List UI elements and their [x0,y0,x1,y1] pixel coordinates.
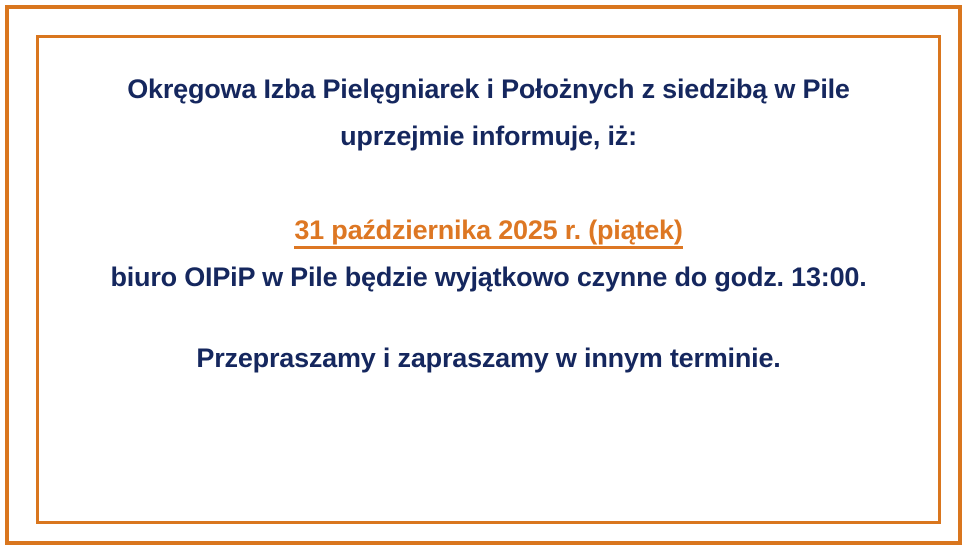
notice-hours-line: biuro OIPiP w Pile będzie wyjątkowo czyn… [53,254,924,301]
notice-text-block: Okręgowa Izba Pielęgniarek i Położnych z… [39,66,938,382]
notice-spacer-2 [53,301,924,335]
notice-date-line: 31 października 2025 r. (piątek) [53,207,924,254]
notice-card-outer-border: Okręgowa Izba Pielęgniarek i Położnych z… [5,5,962,545]
notice-spacer-1 [53,160,924,207]
notice-closing-line: Przepraszamy i zapraszamy w innym termin… [53,335,924,382]
notice-heading-line-1: Okręgowa Izba Pielęgniarek i Położnych z… [53,66,924,113]
notice-heading-line-2: uprzejmie informuje, iż: [53,113,924,160]
notice-date-text: 31 października 2025 r. (piątek) [294,215,682,249]
notice-card-inner-border: Okręgowa Izba Pielęgniarek i Położnych z… [36,35,941,524]
